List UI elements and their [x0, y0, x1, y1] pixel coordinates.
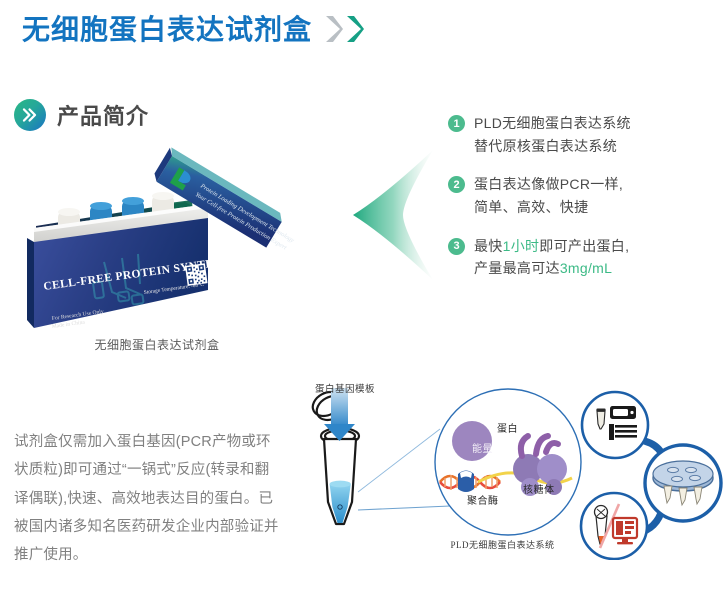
bullet-text-3: 最快1小时即可产出蛋白, 产量最高可达3mg/mL: [474, 235, 629, 280]
diagram-caption: PLD无细胞蛋白表达系统: [420, 538, 585, 551]
tube-and-magnifier-diagram: [300, 374, 600, 559]
bullet-2-line-1: 蛋白表达像做PCR一样,: [474, 173, 623, 196]
page-title: 无细胞蛋白表达试剂盒: [22, 16, 312, 44]
label-energy: 能量: [472, 440, 493, 455]
bullet-item-1: 1 PLD无细胞蛋白表达系统 替代原核蛋白表达系统: [448, 112, 716, 157]
description-paragraph: 试剂盒仅需加入蛋白基因(PCR产物或环状质粒)即可通过“一锅式”反应(转录和翻译…: [14, 428, 282, 569]
double-chevron-icon: [14, 99, 46, 131]
bullet-number-1: 1: [448, 115, 465, 132]
label-polymerase: 聚合酶: [467, 492, 499, 507]
bullet-item-2: 2 蛋白表达像做PCR一样, 简单、高效、快捷: [448, 173, 716, 218]
analysis-screen-node: [581, 493, 647, 559]
section-heading: 产品简介: [14, 99, 149, 131]
product-caption: 无细胞蛋白表达试剂盒: [22, 336, 292, 353]
diagram-top-label: 蛋白基因模板: [315, 381, 375, 395]
connector-line-upper: [358, 429, 440, 492]
bullet-1-line-1: PLD无细胞蛋白表达系统: [474, 112, 631, 135]
bullet-3-highlight-yield: 3mg/mL: [560, 260, 612, 276]
application-icon-cluster: [578, 388, 725, 560]
bullet-1-line-2: 替代原核蛋白表达系统: [474, 135, 631, 158]
gel-imager-icon: [610, 406, 636, 419]
product-photo: CELL-FREE PROTEIN SYNTHESIS KITS Storage…: [22, 142, 332, 332]
petri-dish-node: [645, 445, 721, 521]
section-title: 产品简介: [57, 99, 149, 131]
bullet-3-yield-prefix: 产量最高可达: [474, 260, 560, 276]
bullet-text-1: PLD无细胞蛋白表达系统 替代原核蛋白表达系统: [474, 112, 631, 157]
label-ribosome: 核糖体: [523, 481, 555, 496]
header-chevrons: [324, 14, 365, 44]
double-chevron-glyph: [21, 106, 39, 124]
bullet-3-highlight-time: 1小时: [503, 238, 540, 254]
bullet-2-line-2: 简单、高效、快捷: [474, 196, 623, 219]
bullet-3-line-2: 产量最高可达3mg/mL: [474, 257, 629, 280]
bullet-3-suffix: 即可产出蛋白,: [539, 238, 629, 254]
process-diagram: [300, 374, 600, 559]
connector-line-lower: [358, 506, 450, 510]
bullet-3-prefix: 最快: [474, 238, 503, 254]
green-arrow-divider: [345, 150, 455, 280]
concave-arrow-icon: [345, 150, 455, 280]
chevron-right-icon-teal: [345, 14, 365, 44]
page-header: 无细胞蛋白表达试剂盒: [22, 14, 365, 46]
product-box-illustration: CELL-FREE PROTEIN SYNTHESIS KITS Storage…: [22, 142, 332, 332]
bullet-number-3: 3: [448, 238, 465, 255]
workflow-nodes: [578, 388, 725, 560]
bullet-item-3: 3 最快1小时即可产出蛋白, 产量最高可达3mg/mL: [448, 235, 716, 280]
chevron-right-icon-gray: [324, 14, 344, 44]
feature-bullets: 1 PLD无细胞蛋白表达系统 替代原核蛋白表达系统 2 蛋白表达像做PCR一样,…: [448, 112, 716, 296]
bullet-number-2: 2: [448, 176, 465, 193]
bullet-text-2: 蛋白表达像做PCR一样, 简单、高效、快捷: [474, 173, 623, 218]
poster-root: 无细胞蛋白表达试剂盒 产品简介: [0, 0, 725, 608]
bullet-3-line-1: 最快1小时即可产出蛋白,: [474, 235, 629, 258]
polymerase-icon: [458, 471, 474, 493]
electrophoresis-gel-node: [582, 392, 648, 458]
qr-code-icon: [185, 263, 208, 286]
label-protein: 蛋白: [497, 420, 518, 435]
